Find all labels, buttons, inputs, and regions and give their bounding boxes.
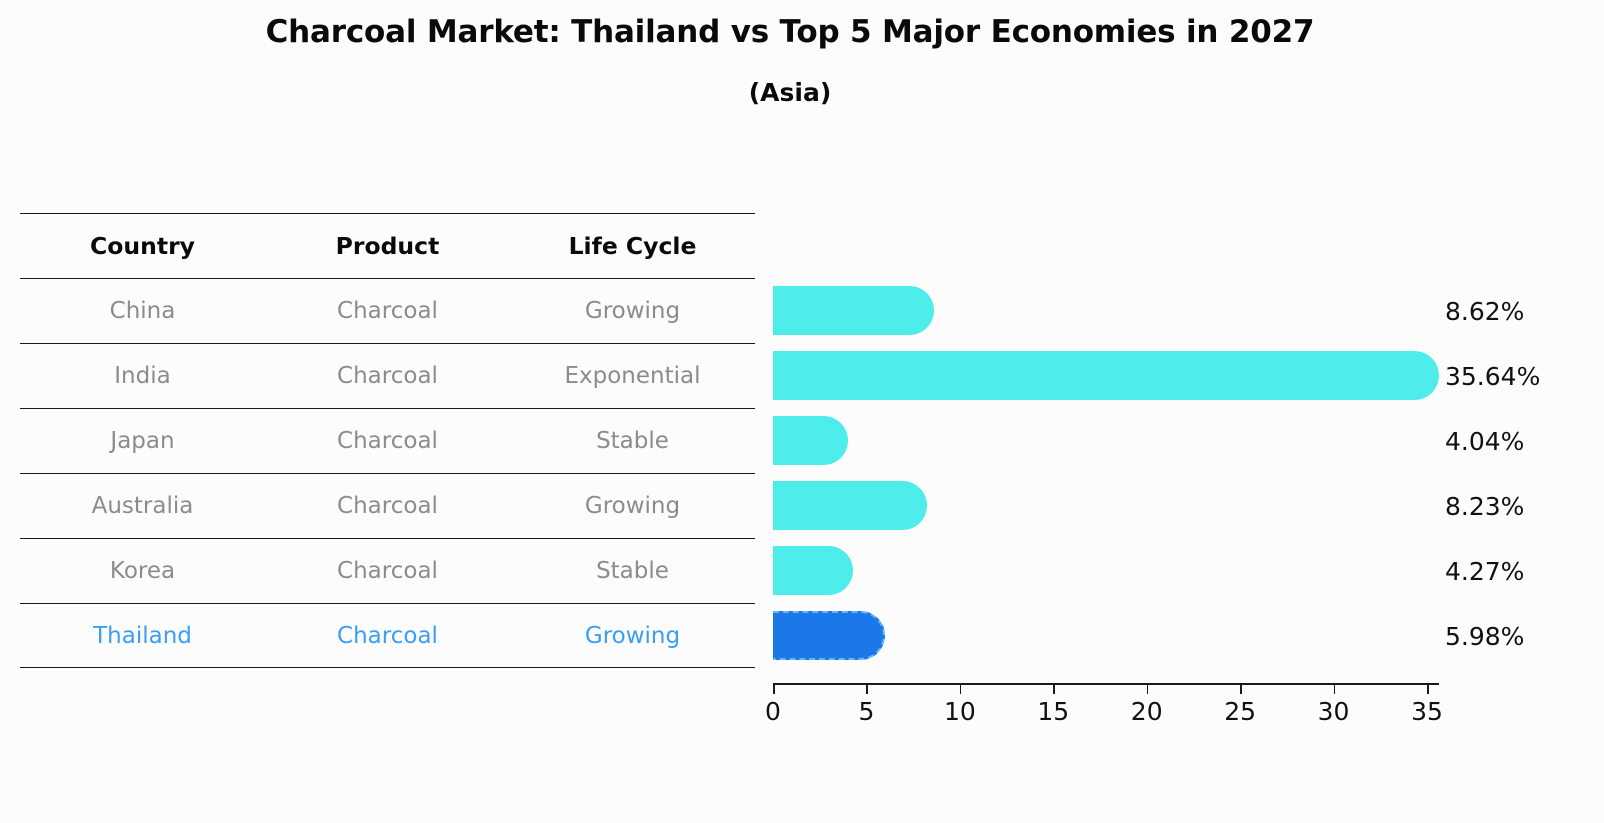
x-axis-tick-label: 15: [1037, 697, 1069, 726]
table-cell-product: Charcoal: [265, 298, 510, 324]
bar-plot-area: 8.62%35.64%4.04%8.23%4.27%5.98%: [773, 213, 1439, 693]
chart-page: Charcoal Market: Thailand vs Top 5 Major…: [0, 0, 1604, 823]
x-axis-tick-label: 30: [1318, 697, 1350, 726]
table-cell-product: Charcoal: [265, 493, 510, 519]
table-row[interactable]: ChinaCharcoalGrowing: [20, 278, 755, 343]
bar-row: 4.27%: [773, 538, 1573, 603]
table-row[interactable]: AustraliaCharcoalGrowing: [20, 473, 755, 538]
x-axis-tick-label: 0: [765, 697, 781, 726]
table-row[interactable]: JapanCharcoalStable: [20, 408, 755, 473]
x-axis-tick: [866, 685, 868, 694]
bar-row: 35.64%: [773, 343, 1573, 408]
table-cell-product: Charcoal: [265, 623, 510, 649]
table-row[interactable]: KoreaCharcoalStable: [20, 538, 755, 603]
chart-title: Charcoal Market: Thailand vs Top 5 Major…: [0, 14, 1580, 50]
x-axis: 05101520253035: [773, 683, 1439, 743]
table-cell-country: Japan: [20, 428, 265, 454]
x-axis-tick: [1053, 685, 1055, 694]
table-cell-life-cycle: Stable: [510, 428, 755, 454]
bar-korea[interactable]: [773, 546, 853, 595]
x-axis-tick-label: 35: [1411, 697, 1443, 726]
table-cell-country: India: [20, 363, 265, 389]
bar-thailand[interactable]: [773, 611, 885, 660]
chart-subtitle: (Asia): [0, 78, 1580, 107]
bar-value-label: 4.27%: [1445, 557, 1524, 586]
bar-value-label: 8.62%: [1445, 297, 1524, 326]
table-header-row: CountryProductLife Cycle: [20, 213, 755, 278]
bar-row: 8.62%: [773, 278, 1573, 343]
table-cell-product: Charcoal: [265, 428, 510, 454]
bar-value-label: 8.23%: [1445, 492, 1524, 521]
bar-value-label: 4.04%: [1445, 427, 1524, 456]
bar-row: 4.04%: [773, 408, 1573, 473]
bar-india[interactable]: [773, 351, 1439, 400]
x-axis-tick: [1427, 685, 1429, 694]
x-axis-line: [773, 683, 1439, 685]
x-axis-tick: [773, 685, 775, 694]
x-axis-tick: [1334, 685, 1336, 694]
bar-china[interactable]: [773, 286, 934, 335]
bar-row: 5.98%: [773, 603, 1573, 668]
bar-value-label: 35.64%: [1445, 362, 1540, 391]
table-cell-life-cycle: Stable: [510, 558, 755, 584]
table-cell-life-cycle: Exponential: [510, 363, 755, 389]
data-table: CountryProductLife CycleChinaCharcoalGro…: [20, 213, 755, 668]
x-axis-tick: [1147, 685, 1149, 694]
x-axis-tick: [960, 685, 962, 694]
table-cell-product: Charcoal: [265, 558, 510, 584]
table-cell-country: Thailand: [20, 623, 265, 649]
bar-australia[interactable]: [773, 481, 927, 530]
bar-value-label: 5.98%: [1445, 622, 1524, 651]
x-axis-tick-label: 10: [944, 697, 976, 726]
bar-row: 8.23%: [773, 473, 1573, 538]
table-header-life-cycle: Life Cycle: [510, 232, 755, 260]
table-cell-life-cycle: Growing: [510, 298, 755, 324]
table-cell-country: China: [20, 298, 265, 324]
table-cell-life-cycle: Growing: [510, 493, 755, 519]
table-cell-product: Charcoal: [265, 363, 510, 389]
table-row[interactable]: IndiaCharcoalExponential: [20, 343, 755, 408]
table-cell-country: Korea: [20, 558, 265, 584]
table-cell-country: Australia: [20, 493, 265, 519]
table-row[interactable]: ThailandCharcoalGrowing: [20, 603, 755, 668]
table-cell-life-cycle: Growing: [510, 623, 755, 649]
x-axis-tick-label: 20: [1131, 697, 1163, 726]
table-header-country: Country: [20, 232, 265, 260]
bar-japan[interactable]: [773, 416, 848, 465]
x-axis-tick-label: 5: [858, 697, 874, 726]
x-axis-tick-label: 25: [1224, 697, 1256, 726]
table-header-product: Product: [265, 232, 510, 260]
x-axis-tick: [1240, 685, 1242, 694]
